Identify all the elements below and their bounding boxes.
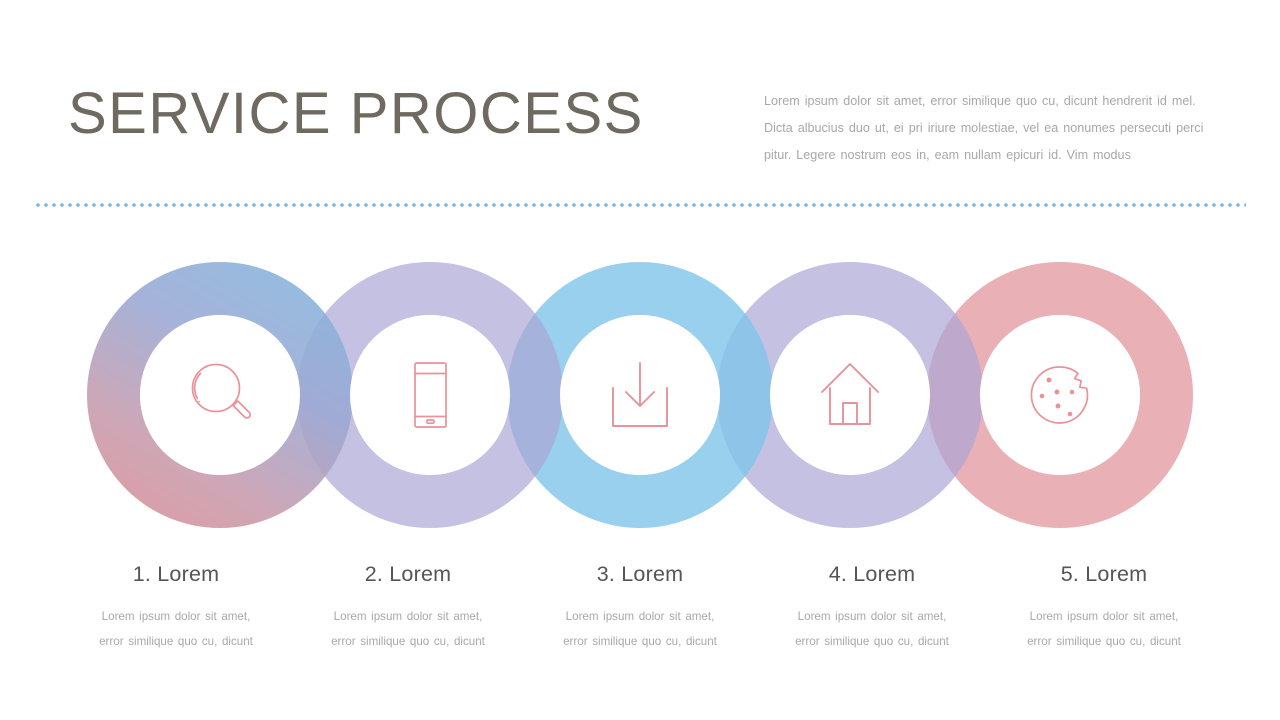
step-title-4: 4. Lorem bbox=[764, 562, 980, 588]
step-description-3-line-1: Lorem ipsum dolor sit amet, bbox=[532, 604, 748, 630]
dotted-divider bbox=[34, 203, 1246, 207]
step-description-5-line-2: error similique quo cu, dicunt bbox=[996, 629, 1212, 655]
step-title-2: 2. Lorem bbox=[300, 562, 516, 588]
step-description-3-line-2: error similique quo cu, dicunt bbox=[532, 629, 748, 655]
page-title: SERVICE PROCESS bbox=[68, 84, 644, 145]
step-description-4: Lorem ipsum dolor sit amet, error simili… bbox=[764, 604, 980, 655]
slide-canvas: SERVICE PROCESS Lorem ipsum dolor sit am… bbox=[0, 0, 1280, 720]
process-ring-chain bbox=[0, 240, 1280, 550]
step-description-1: Lorem ipsum dolor sit amet, error simili… bbox=[68, 604, 284, 655]
step-item-3[interactable]: 3. Lorem Lorem ipsum dolor sit amet, err… bbox=[524, 562, 756, 682]
step-title-1: 1. Lorem bbox=[68, 562, 284, 588]
step-title-3: 3. Lorem bbox=[532, 562, 748, 588]
step-item-1[interactable]: 1. Lorem Lorem ipsum dolor sit amet, err… bbox=[60, 562, 292, 682]
step-description-1-line-1: Lorem ipsum dolor sit amet, bbox=[68, 604, 284, 630]
step-item-5[interactable]: 5. Lorem Lorem ipsum dolor sit amet, err… bbox=[988, 562, 1220, 682]
step-description-2-line-1: Lorem ipsum dolor sit amet, bbox=[300, 604, 516, 630]
step-description-4-line-2: error similique quo cu, dicunt bbox=[764, 629, 980, 655]
step-label-row: 1. Lorem Lorem ipsum dolor sit amet, err… bbox=[60, 562, 1220, 682]
step-title-5: 5. Lorem bbox=[996, 562, 1212, 588]
intro-paragraph: Lorem ipsum dolor sit amet, error simili… bbox=[764, 88, 1204, 169]
step-item-2[interactable]: 2. Lorem Lorem ipsum dolor sit amet, err… bbox=[292, 562, 524, 682]
step-description-3: Lorem ipsum dolor sit amet, error simili… bbox=[532, 604, 748, 655]
step-description-2: Lorem ipsum dolor sit amet, error simili… bbox=[300, 604, 516, 655]
step-description-4-line-1: Lorem ipsum dolor sit amet, bbox=[764, 604, 980, 630]
step-description-5: Lorem ipsum dolor sit amet, error simili… bbox=[996, 604, 1212, 655]
step-item-4[interactable]: 4. Lorem Lorem ipsum dolor sit amet, err… bbox=[756, 562, 988, 682]
step-description-5-line-1: Lorem ipsum dolor sit amet, bbox=[996, 604, 1212, 630]
step-description-1-line-2: error similique quo cu, dicunt bbox=[68, 629, 284, 655]
step-description-2-line-2: error similique quo cu, dicunt bbox=[300, 629, 516, 655]
